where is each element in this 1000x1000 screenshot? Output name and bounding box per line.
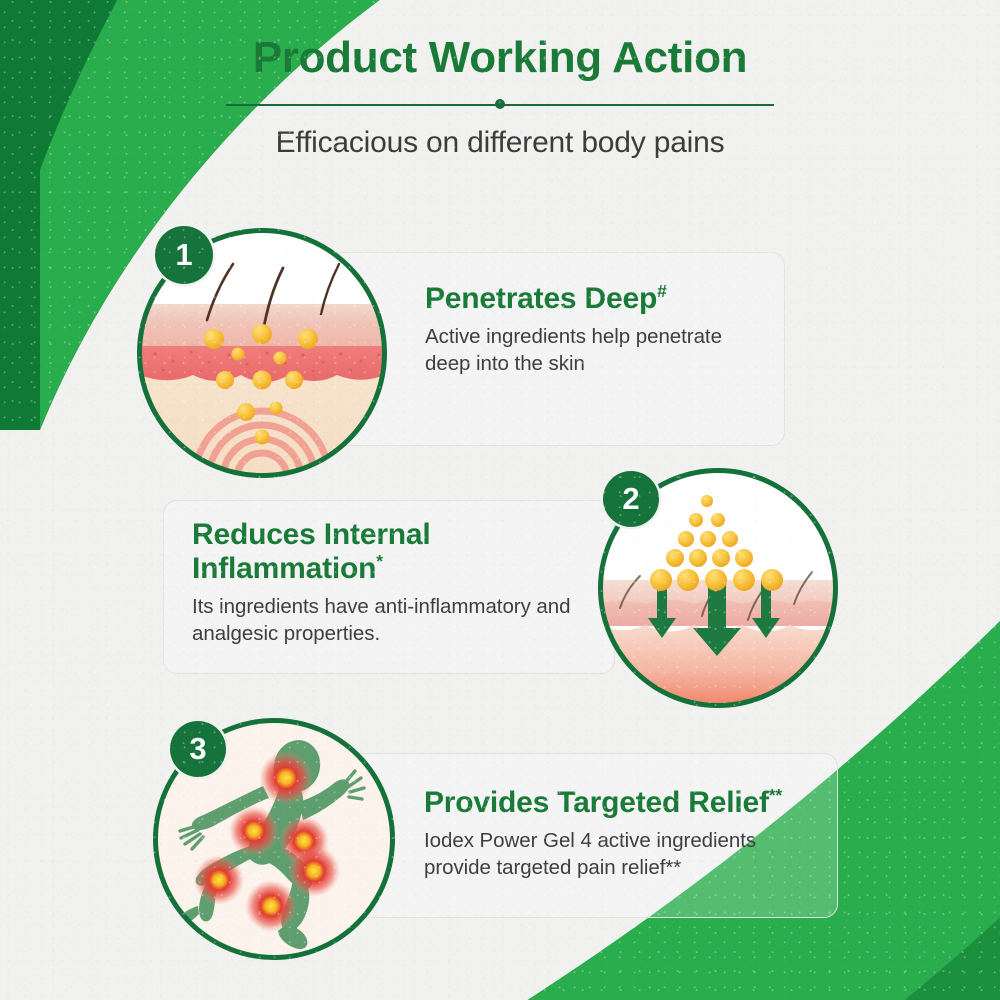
step-heading-2: Reduces Internal Inflammation* bbox=[192, 518, 582, 586]
step-badge-1: 1 bbox=[155, 226, 213, 284]
page-title: Product Working Action bbox=[0, 34, 1000, 82]
step-text-1: Penetrates Deep# Active ingredients help… bbox=[425, 282, 770, 378]
step-heading-3: Provides Targeted Relief** bbox=[424, 786, 824, 820]
step-body-1: Active ingredients help penetrate deep i… bbox=[425, 323, 770, 378]
step-heading-mark-2: * bbox=[376, 551, 383, 571]
infographic-poster: Product Working Action Efficacious on di… bbox=[0, 0, 1000, 1000]
step-badge-2: 2 bbox=[603, 471, 659, 527]
step-heading-mark-3: ** bbox=[769, 785, 782, 805]
page-subtitle: Efficacious on different body pains bbox=[0, 126, 1000, 160]
step-badge-3: 3 bbox=[170, 721, 226, 777]
step-body-3: Iodex Power Gel 4 active ingredients pro… bbox=[424, 827, 824, 882]
header: Product Working Action Efficacious on di… bbox=[0, 34, 1000, 160]
step-heading-text-2: Reduces Internal Inflammation bbox=[192, 518, 431, 585]
step-heading-mark-1: # bbox=[657, 281, 666, 301]
step-text-2: Reduces Internal Inflammation* Its ingre… bbox=[192, 518, 582, 648]
step-body-2: Its ingredients have anti-inflammatory a… bbox=[192, 593, 582, 648]
step-heading-1: Penetrates Deep# bbox=[425, 282, 770, 316]
title-divider bbox=[226, 98, 774, 112]
step-text-3: Provides Targeted Relief** Iodex Power G… bbox=[424, 786, 824, 882]
step-heading-text-3: Provides Targeted Relief bbox=[424, 786, 769, 819]
step-heading-text-1: Penetrates Deep bbox=[425, 282, 657, 315]
divider-dot-icon bbox=[495, 99, 505, 109]
